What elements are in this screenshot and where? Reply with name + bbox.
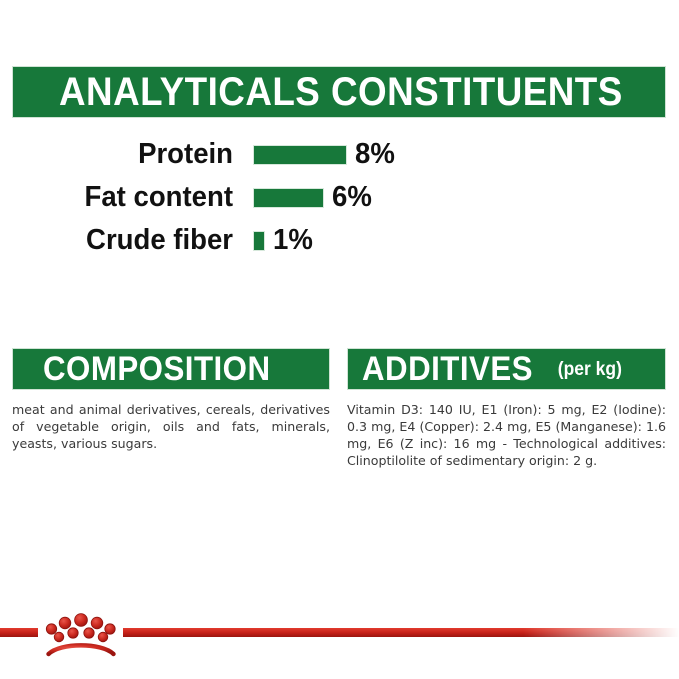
- row-value-protein: 8%: [355, 138, 395, 171]
- analyticals-header-band: ANALYTICALS CONSTITUENTS: [12, 66, 666, 118]
- row-label-fat-content: Fat content: [12, 181, 233, 214]
- composition-heading: COMPOSITION: [43, 352, 271, 386]
- row-value-crude-fiber: 1%: [273, 224, 313, 257]
- additives-text: Vitamin D3: 140 IU, E1 (Iron): 5 mg, E2 …: [347, 401, 666, 469]
- additives-header-band: ADDITIVES (per kg): [347, 348, 666, 390]
- analyticals-rows: Protein 8% Fat content 6% Crude fiber 1%: [0, 133, 679, 262]
- composition-header-band: COMPOSITION: [12, 348, 330, 390]
- composition-text: meat and animal derivatives, cereals, de…: [12, 401, 330, 452]
- additives-subheading: (per kg): [558, 360, 622, 379]
- additives-heading: ADDITIVES: [362, 352, 533, 386]
- row-value-fat-content: 6%: [332, 181, 372, 214]
- table-row: Fat content 6%: [0, 176, 679, 219]
- table-row: Protein 8%: [0, 133, 679, 176]
- row-bar-crude-fiber: [253, 231, 265, 251]
- row-label-protein: Protein: [12, 138, 233, 171]
- nutrition-panel: ANALYTICALS CONSTITUENTS Protein 8% Fat …: [0, 0, 679, 679]
- table-row: Crude fiber 1%: [0, 219, 679, 262]
- footer-rule-right: [123, 628, 679, 637]
- row-bar-protein: [253, 145, 347, 165]
- row-label-crude-fiber: Crude fiber: [12, 224, 233, 257]
- royal-canin-crown-icon: [42, 602, 120, 662]
- analyticals-heading: ANALYTICALS CONSTITUENTS: [59, 72, 623, 112]
- footer: [0, 598, 679, 668]
- footer-rule-left: [0, 628, 38, 637]
- row-bar-fat-content: [253, 188, 324, 208]
